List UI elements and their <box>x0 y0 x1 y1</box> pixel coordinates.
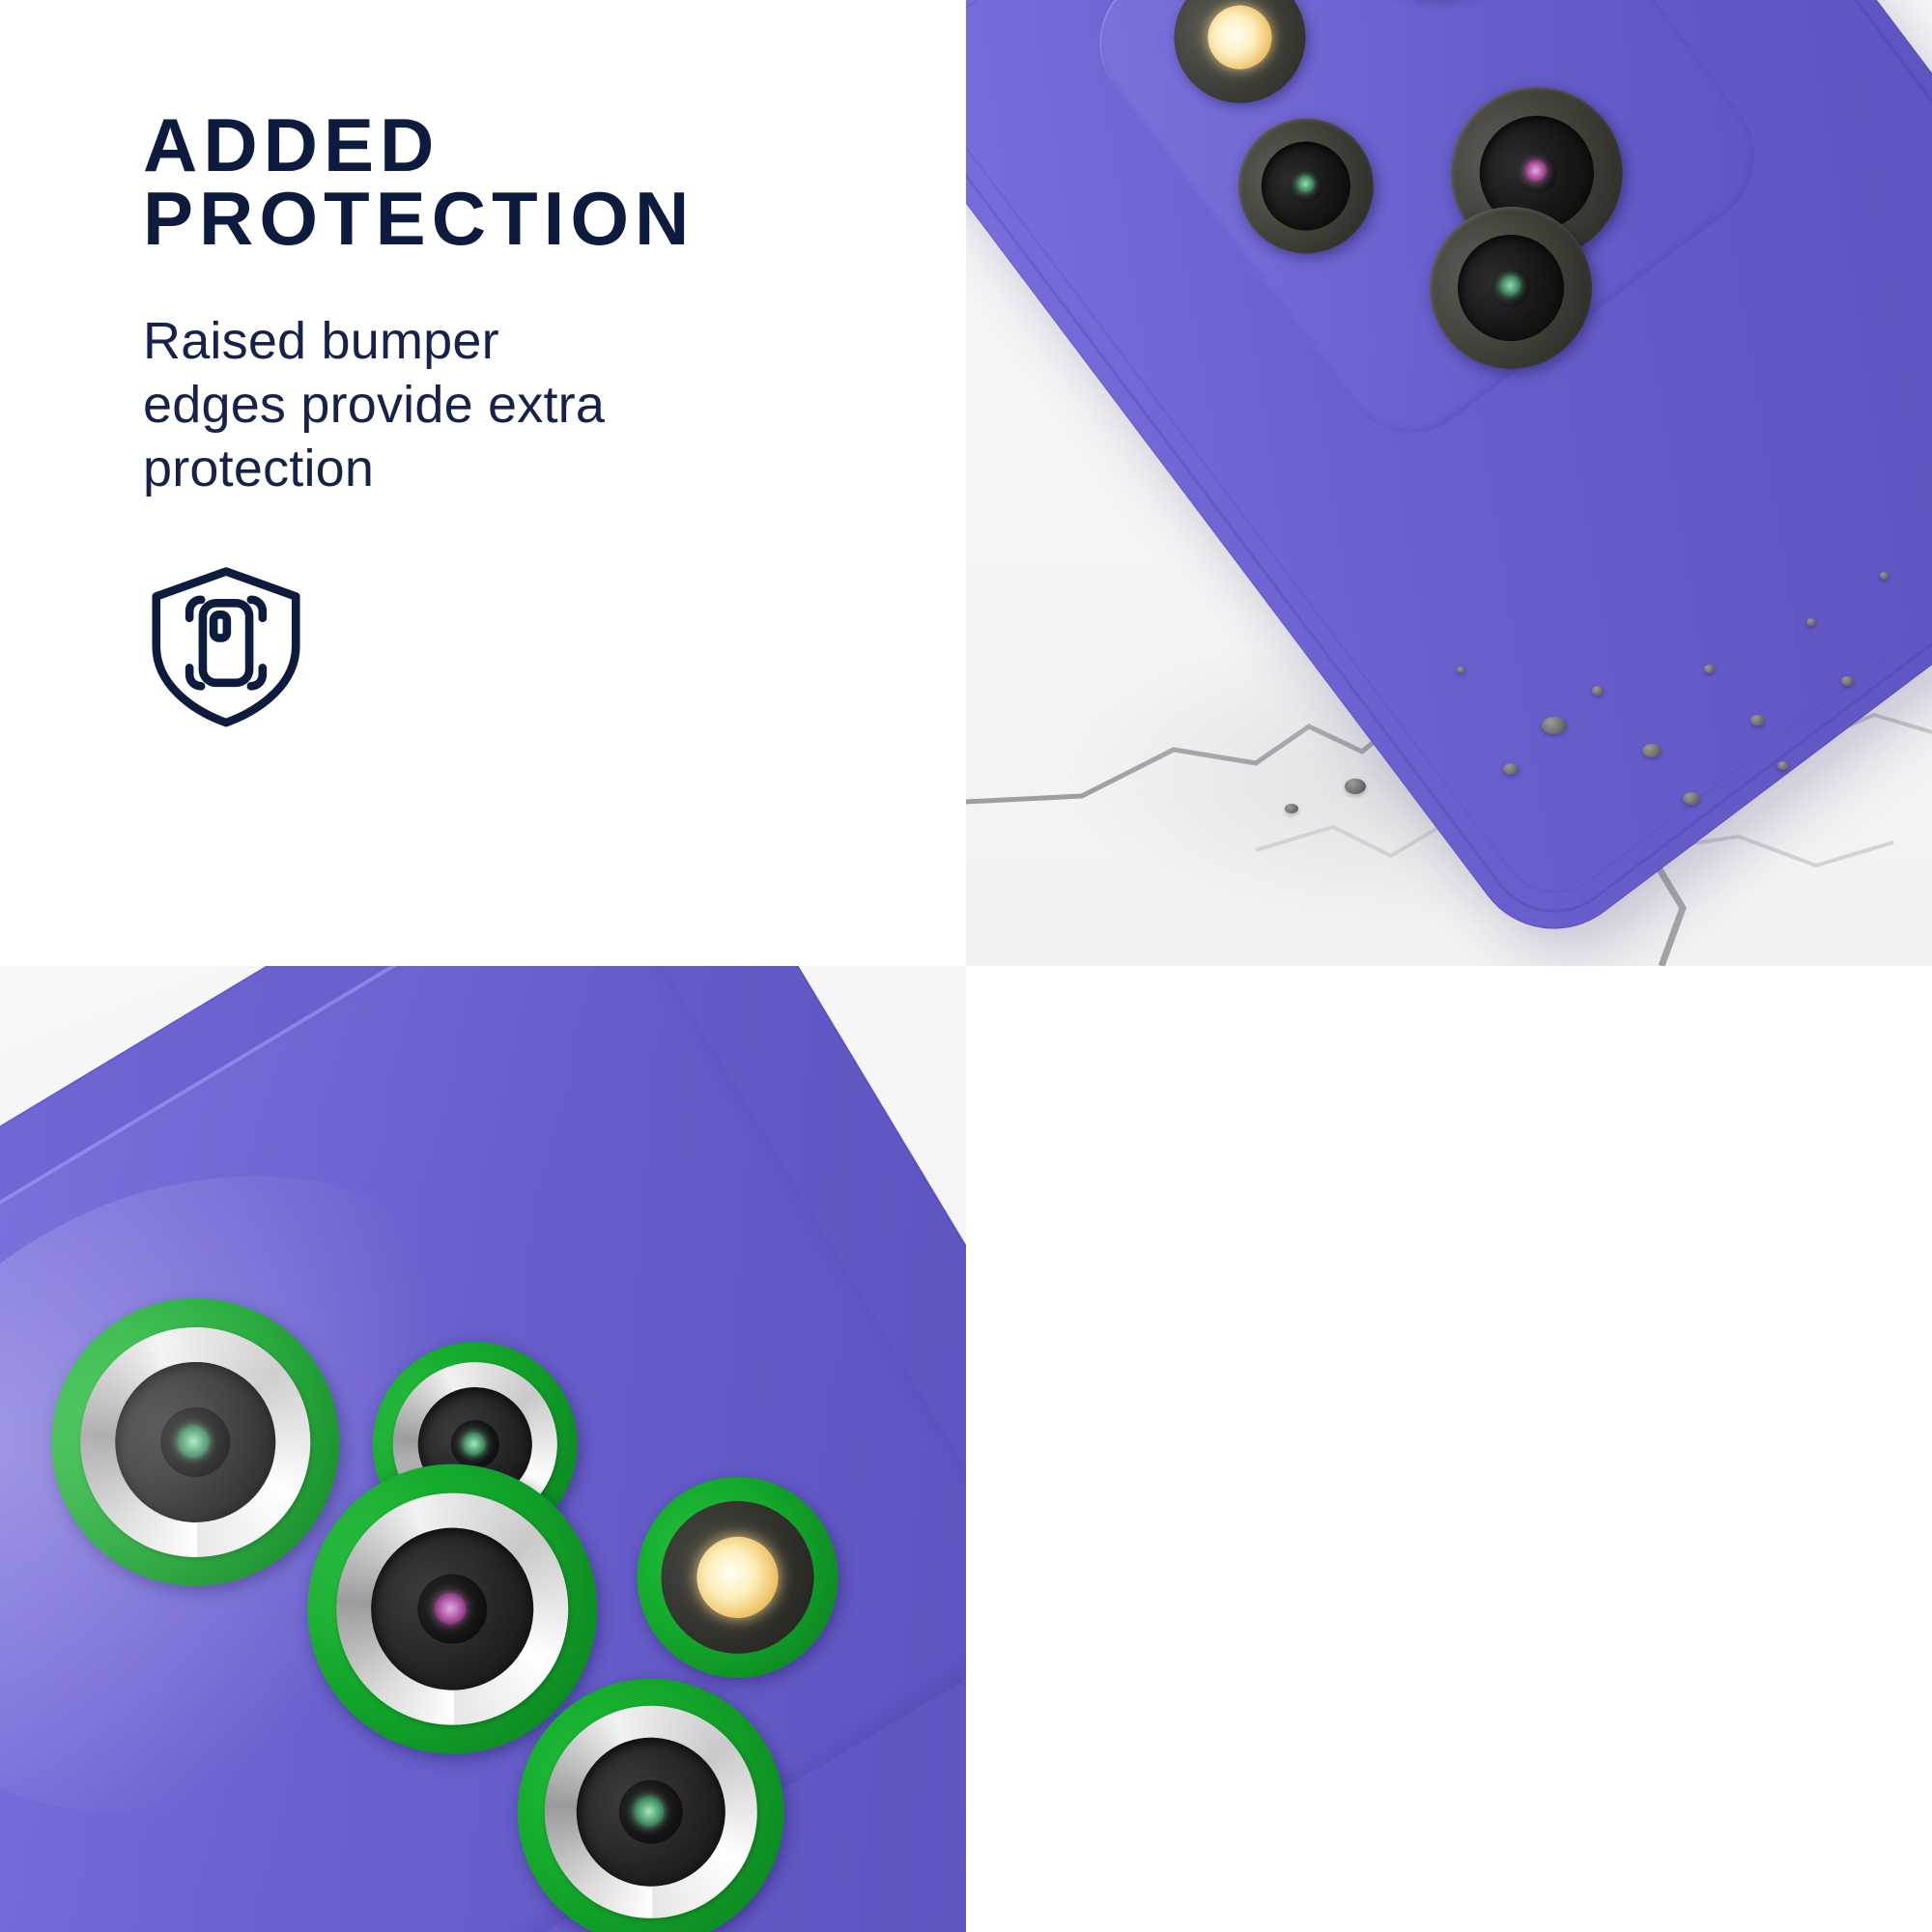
debris-particle <box>1704 665 1715 673</box>
debris-particle <box>1542 717 1567 734</box>
camera-macro-photo-quadrant <box>0 966 966 1932</box>
camera-lens-main <box>1310 0 1564 31</box>
phone-case-camera-macro-photo <box>0 966 966 1932</box>
debris-particle <box>1841 676 1854 686</box>
body-line-1: Raised bumper <box>143 310 858 374</box>
debris-particle <box>1880 572 1889 580</box>
debris-particle <box>1503 763 1519 775</box>
debris-particle <box>1777 761 1789 770</box>
body-line-2: edges provide extra <box>143 374 858 438</box>
product-feature-grid: ADDED PROTECTION Raised bumper edges pro… <box>0 0 1932 1932</box>
heading-line-1: ADDED <box>143 108 906 182</box>
macro-phone-body <box>0 966 966 1932</box>
heading-line-2: PROTECTION <box>143 182 906 255</box>
debris-particle <box>1642 744 1662 757</box>
impact-photo-quadrant <box>966 0 1932 966</box>
camera-flash <box>1148 0 1331 129</box>
debris-particle <box>1592 686 1604 696</box>
debris-particle <box>1457 667 1465 673</box>
debris-particle <box>1683 792 1700 805</box>
debris-particle <box>1285 804 1298 813</box>
camera-lens-wide <box>1211 92 1401 281</box>
shield-phone-icon <box>143 563 309 729</box>
added-protection-heading: ADDED PROTECTION <box>143 108 906 256</box>
phone-case-corner-impact-photo <box>966 0 1932 966</box>
added-protection-content: ADDED PROTECTION Raised bumper edges pro… <box>143 108 906 729</box>
panel-protects-camera: PROTECTS CAMERA Raised edges protect cam… <box>966 966 1932 1932</box>
added-protection-body: Raised bumper edges provide extra protec… <box>143 310 858 501</box>
panel-added-protection: ADDED PROTECTION Raised bumper edges pro… <box>0 0 966 966</box>
debris-particle <box>1345 779 1366 794</box>
body-line-3: protection <box>143 438 858 501</box>
debris-particle <box>1806 618 1816 626</box>
debris-particle <box>1750 715 1765 725</box>
